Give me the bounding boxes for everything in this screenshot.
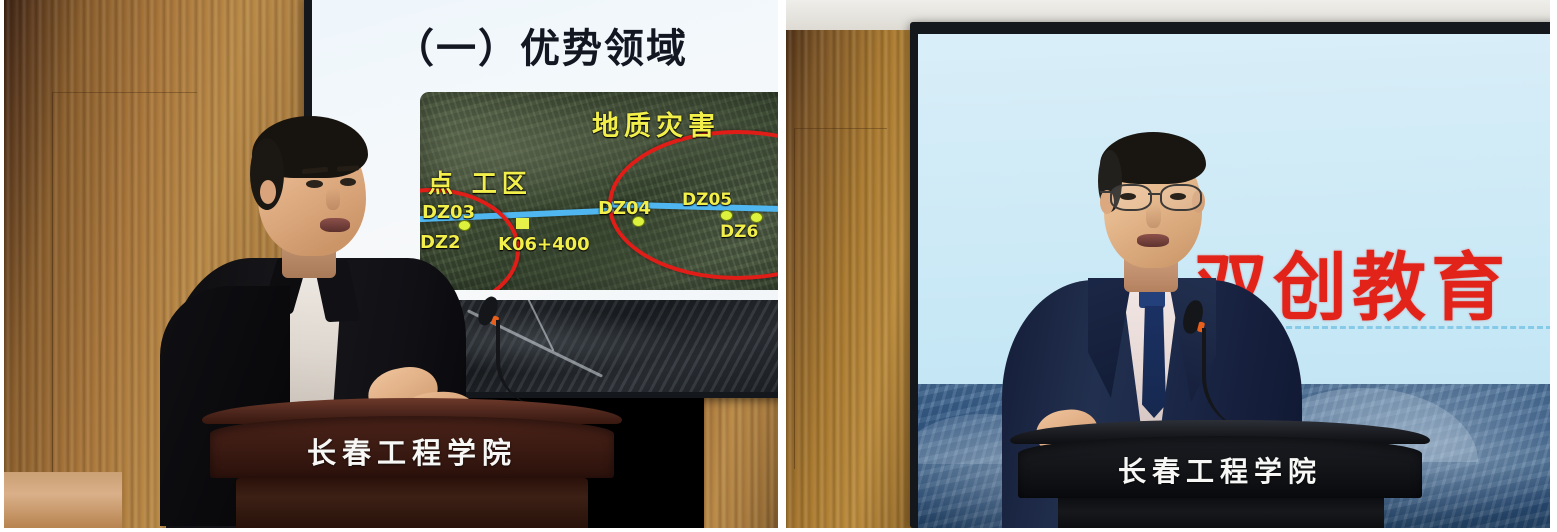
speaker-left-mouth bbox=[320, 218, 350, 232]
microphone-right bbox=[1178, 300, 1288, 430]
speaker-right-mouth bbox=[1137, 234, 1169, 247]
podium-left-base bbox=[236, 478, 588, 528]
podium-right-base bbox=[1058, 498, 1384, 528]
eyeglass-bridge bbox=[1148, 193, 1160, 195]
podium-left: 长春工程学院 bbox=[202, 398, 622, 528]
map-label-dz6: DZ6 bbox=[720, 222, 758, 242]
microphone-stem bbox=[496, 320, 542, 406]
door-seam-right bbox=[794, 128, 887, 469]
wall-baseboard-left bbox=[4, 472, 122, 528]
map-label-dz05: DZ05 bbox=[682, 190, 732, 210]
eyeglass-temple bbox=[1100, 191, 1112, 193]
slide-left-title: （一）优势领域 bbox=[394, 16, 688, 74]
map-node bbox=[720, 210, 733, 221]
speaker-left-nose bbox=[326, 188, 340, 210]
podium-right-label: 长春工程学院 bbox=[1010, 450, 1430, 490]
speaker-left-eye bbox=[306, 180, 323, 188]
microphone-left bbox=[466, 296, 556, 406]
microphone-stem bbox=[1202, 328, 1258, 432]
lecture-photo-left: （一）优势领域 地质灾害 点 工区 DZ03 DZ2 K bbox=[4, 0, 778, 528]
podium-right: 长春工程学院 bbox=[1010, 420, 1430, 528]
speaker-right-eye-2 bbox=[1170, 193, 1186, 200]
speaker-right-tie bbox=[1142, 306, 1166, 418]
speaker-left-eye-2 bbox=[340, 178, 356, 186]
lecture-photo-right: 双创教育 bbox=[786, 0, 1550, 528]
speaker-right-eye bbox=[1120, 193, 1136, 200]
speaker-right-nose bbox=[1146, 204, 1161, 228]
speaker-left-ear bbox=[260, 180, 276, 204]
screenshot-canvas: （一）优势领域 地质灾害 点 工区 DZ03 DZ2 K bbox=[0, 0, 1557, 532]
map-label-heading: 地质灾害 bbox=[592, 104, 720, 143]
podium-left-label: 长春工程学院 bbox=[202, 430, 622, 472]
map-label-dz04: DZ04 bbox=[598, 198, 651, 219]
